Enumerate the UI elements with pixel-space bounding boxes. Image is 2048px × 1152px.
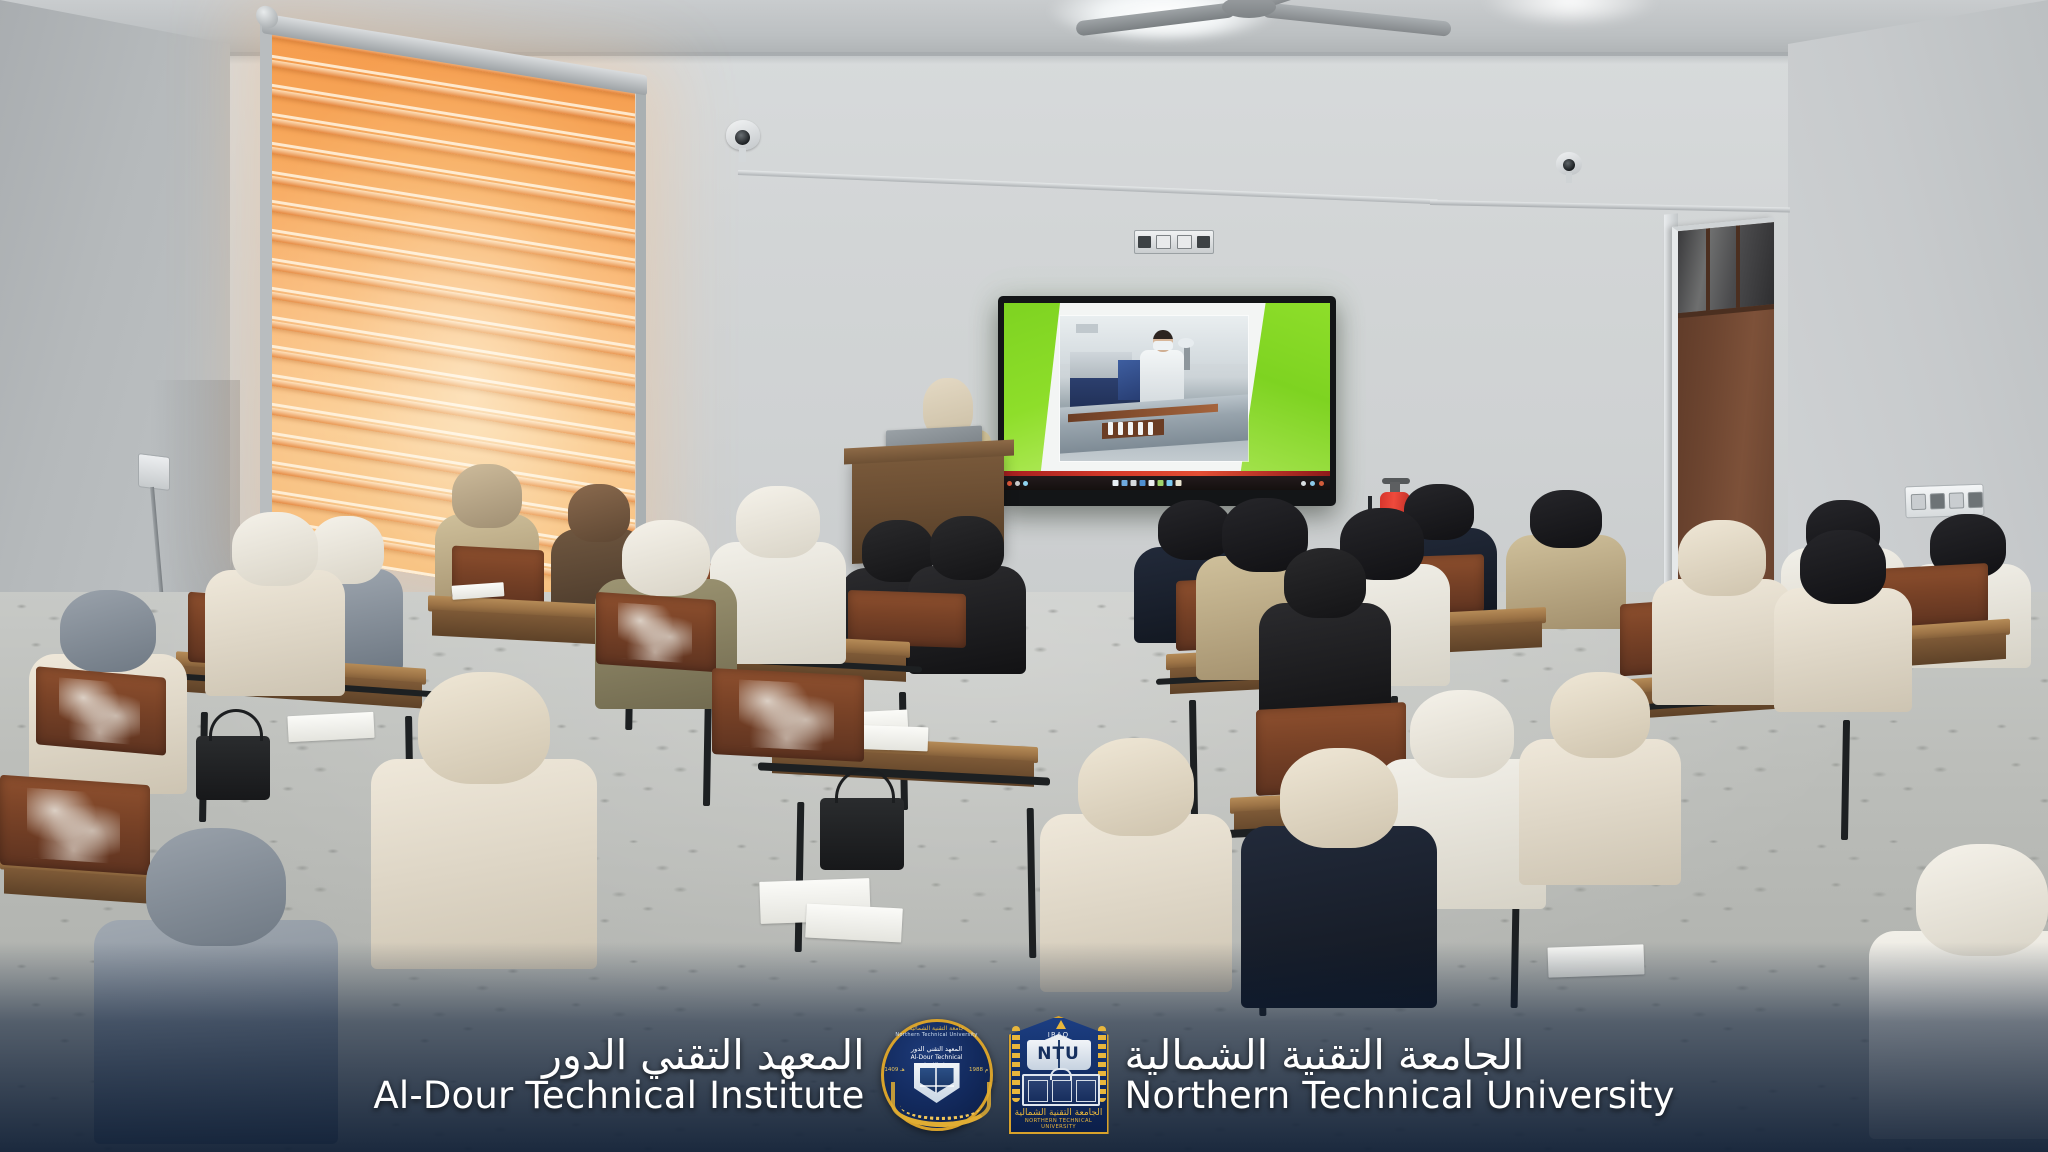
ntu-shield-english: NORTHERN TECHNICAL UNIVERSITY — [1009, 1118, 1109, 1130]
door-transom-window — [1678, 222, 1774, 318]
wall-mounted-display[interactable] — [998, 296, 1336, 506]
light-switch[interactable] — [138, 453, 170, 491]
student-torso — [1519, 739, 1681, 885]
student-head — [1284, 548, 1366, 618]
student-head — [1078, 738, 1194, 836]
paper-sheet — [805, 904, 903, 943]
student-head — [60, 590, 156, 672]
security-camera-icon — [1556, 152, 1582, 182]
student-head — [1916, 844, 2048, 956]
ntu-shield-logo: IRAQ NTU الجامعة التقنية الشمالية NORTHE… — [1009, 1016, 1109, 1134]
lab-demonstration-video — [1060, 316, 1248, 461]
chair-back — [0, 775, 150, 875]
seal-year-hijri: هـ 1409 — [884, 1067, 906, 1074]
student-head — [1280, 748, 1398, 848]
student-head — [1158, 500, 1232, 560]
display-screen — [1004, 303, 1330, 490]
student-head — [1410, 690, 1514, 778]
student-head — [1800, 530, 1886, 604]
student-torso — [205, 570, 345, 696]
seal-arc-text: جامعة التقنية الشمالية Northern Technica… — [881, 1025, 993, 1038]
student-head — [1530, 490, 1602, 548]
student-torso — [1774, 588, 1912, 712]
student-head — [1678, 520, 1766, 596]
student-head — [1550, 672, 1650, 758]
student-head — [736, 486, 820, 558]
student-head — [452, 464, 522, 528]
screenshot-root: المعهد التقني الدور Al-Dour Technical In… — [0, 0, 2048, 1152]
student-head — [232, 512, 318, 586]
seal-year-gregorian: م 1988 — [968, 1067, 990, 1074]
paper-sheet — [287, 712, 374, 742]
chair-back — [36, 666, 166, 755]
ntu-shield-arabic: الجامعة التقنية الشمالية — [1009, 1108, 1109, 1118]
student-torso — [371, 759, 597, 969]
handbag — [196, 736, 270, 800]
student-head — [568, 484, 630, 542]
institute-name-arabic: المعهد التقني الدور — [373, 1035, 864, 1077]
seal-arc-arabic: جامعة التقنية الشمالية — [909, 1025, 964, 1032]
student-head — [622, 520, 710, 596]
institute-name-block: المعهد التقني الدور Al-Dour Technical In… — [373, 1035, 864, 1115]
student-head — [418, 672, 550, 784]
wall-connector-plate — [1134, 230, 1214, 254]
security-camera-icon — [726, 120, 760, 160]
ntu-star-icon — [1056, 1020, 1066, 1029]
handbag — [820, 798, 904, 870]
university-name-arabic: الجامعة التقنية الشمالية — [1125, 1035, 1675, 1077]
student-head — [146, 828, 286, 946]
ntu-building-icon — [1022, 1074, 1100, 1106]
seal-arc-english: Northern Technical University — [881, 1032, 993, 1038]
chair-back — [712, 668, 864, 762]
seal-mid-arabic: المعهد التقني الدور — [911, 1045, 962, 1053]
university-name-english: Northern Technical University — [1125, 1077, 1675, 1115]
branding-bar: المعهد التقني الدور Al-Dour Technical In… — [0, 1016, 2048, 1134]
student-torso — [1652, 579, 1792, 705]
chair-back — [596, 592, 716, 672]
student-head — [930, 516, 1004, 580]
windows-taskbar[interactable] — [1004, 476, 1330, 490]
ntu-monogram: NTU — [1009, 1044, 1109, 1064]
institute-name-english: Al-Dour Technical Institute — [373, 1077, 864, 1115]
seal-laurel-wreath — [891, 1082, 991, 1127]
institute-seal-logo: جامعة التقنية الشمالية Northern Technica… — [881, 1019, 993, 1131]
university-name-block: الجامعة التقنية الشمالية Northern Techni… — [1125, 1035, 1675, 1115]
